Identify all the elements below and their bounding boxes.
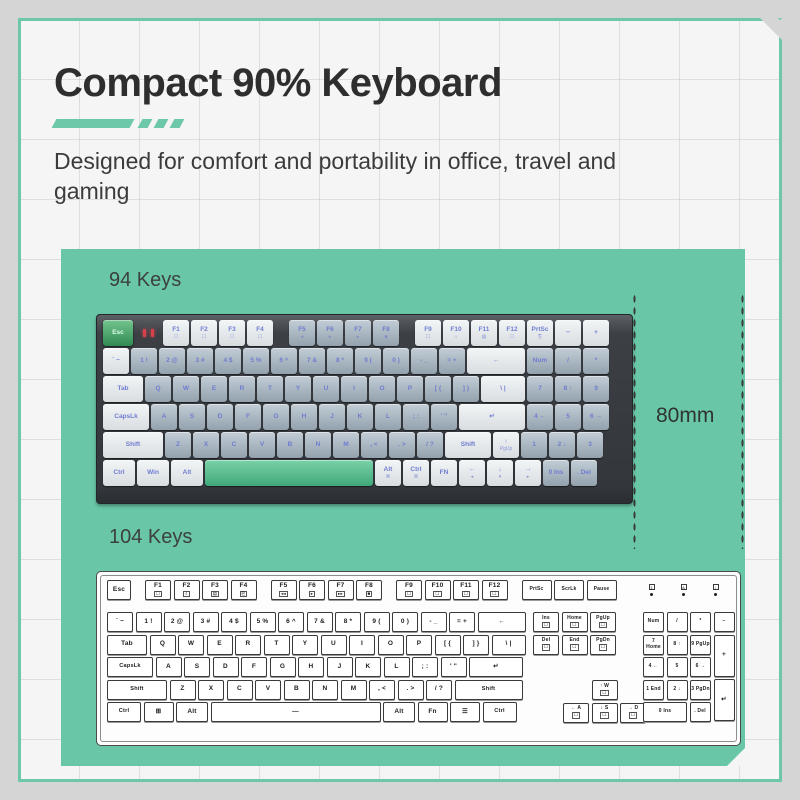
key-f2[interactable]: F2☐ (191, 320, 217, 346)
key-label: 3 (588, 442, 592, 449)
numpad-cluster: Num/*−7 Home8 ↑9 PgUp4 ←56 →1 End2 ↓3 Pg… (643, 612, 735, 725)
key-label: / ? (426, 442, 434, 449)
key-z[interactable]: Z (170, 680, 196, 700)
key-o[interactable]: O (378, 635, 404, 655)
key-f4[interactable]: F4⎘ (231, 580, 257, 600)
key-label: Pause (594, 587, 610, 592)
key-tab[interactable]: Tab (107, 635, 147, 655)
key-label: 5 % (257, 619, 269, 626)
key-label: + (722, 652, 726, 659)
key-ins[interactable]: Ins☐ (533, 612, 559, 632)
key-5[interactable]: 5 (667, 657, 688, 677)
key-d[interactable]: D (213, 657, 239, 677)
key-s[interactable]: ↓ S☐ (592, 703, 618, 723)
key-label: K (366, 664, 371, 671)
accent-bar (52, 119, 135, 128)
key-label: J (330, 414, 334, 421)
key-f1[interactable]: F1☐ (163, 320, 189, 346)
numpad-digit-row-3: 1 End2 ↓3 PgDn (643, 680, 711, 700)
key-sublabel: ◂◂ (279, 591, 288, 598)
page-frame: Compact 90% Keyboard Designed for comfor… (18, 18, 782, 782)
key-ctrl[interactable]: Ctrl⌘ (403, 460, 429, 486)
key-shift[interactable]: Shift (455, 680, 523, 700)
key-[interactable]: ← (478, 612, 526, 632)
key-h[interactable]: H (298, 657, 324, 677)
key-gap (275, 320, 287, 346)
key-b[interactable]: B (284, 680, 310, 700)
key-y[interactable]: Y (285, 376, 311, 402)
key-label: Alt (187, 709, 196, 716)
key-label: X (209, 686, 214, 693)
key-label: Num (648, 619, 660, 624)
key-f7[interactable]: F7▸▸ (328, 580, 354, 600)
key-label: → (525, 467, 532, 474)
key-label: Tab (121, 641, 133, 648)
key-t[interactable]: T (257, 376, 283, 402)
key-label: ' " (450, 664, 457, 671)
key-num[interactable]: Num (643, 612, 664, 632)
key-sublabel: ■ (384, 335, 387, 340)
key-[interactable]: ' " (441, 657, 467, 677)
key-w[interactable]: ↑ W☐ (592, 680, 618, 700)
key-label: + (594, 330, 598, 337)
key-[interactable]: + (583, 320, 609, 346)
keyboard-row-qwerty-row: TabQWERTYUIOP[ {] }\ |78 ↑9 (103, 376, 626, 402)
key-[interactable]: ↓▾ (487, 460, 513, 486)
key-win[interactable]: Win (137, 460, 169, 486)
key-pgup[interactable]: PgUp☐ (590, 612, 616, 632)
key-alt[interactable]: Alt⌘ (375, 460, 401, 486)
key-alt[interactable]: Alt (171, 460, 203, 486)
key-3[interactable]: 3 (577, 432, 603, 458)
key-4[interactable]: 4 ← (643, 657, 664, 677)
key-f12[interactable]: F12☐ (499, 320, 525, 346)
key-1[interactable]: 1 (521, 432, 547, 458)
key-fn[interactable]: FN (431, 460, 457, 486)
key-[interactable]: ← (467, 348, 525, 374)
key-j[interactable]: J (319, 404, 345, 430)
key-f11[interactable]: F11▤ (471, 320, 497, 346)
key-label: E (212, 386, 216, 393)
key-pgdn[interactable]: PgDn☐ (590, 635, 616, 655)
key-4[interactable]: 4 $ (221, 612, 247, 632)
key-label: V (266, 686, 271, 693)
key-8[interactable]: 8 * (335, 612, 361, 632)
key-[interactable]: ←◂ (459, 460, 485, 486)
numpad-digit-row-2: 4 ←56 → (643, 657, 711, 677)
key-f3[interactable]: F3☐ (219, 320, 245, 346)
key-1-end[interactable]: 1 End (643, 680, 664, 700)
key-[interactable]: = + (439, 348, 465, 374)
key-a[interactable]: ← A☐ (563, 703, 589, 723)
key-label: ; : (422, 664, 429, 671)
key-[interactable]: - _ (421, 612, 447, 632)
key-shift[interactable]: Shift (445, 432, 491, 458)
key-[interactable]: \ | (492, 635, 526, 655)
key-a[interactable]: A (151, 404, 177, 430)
key-label: 2 @ (166, 358, 178, 365)
key-f4[interactable]: F4☐ (247, 320, 273, 346)
key-label: U (331, 641, 336, 648)
key-9[interactable]: 9 (583, 376, 609, 402)
key-label: - _ (429, 619, 437, 626)
key-c[interactable]: C (227, 680, 253, 700)
key-v[interactable]: V (249, 432, 275, 458)
key-[interactable]: ` ~ (103, 348, 129, 374)
key-f9[interactable]: F9☐ (415, 320, 441, 346)
key-label: Shift (461, 442, 475, 449)
key-j[interactable]: J (327, 657, 353, 677)
key-sublabel: ▸ (357, 335, 360, 340)
keyboard-row-number-row: ` ~1 !2 @3 #4 $5 %6 ^7 &8 *9 (0 )- _= +←… (103, 348, 626, 374)
key-home[interactable]: Home☐ (562, 612, 588, 632)
key-0-ins[interactable]: 0 Ins (543, 460, 569, 486)
key-f7[interactable]: F7▸ (345, 320, 371, 346)
key-w[interactable]: W (178, 635, 204, 655)
key-r[interactable]: R (229, 376, 255, 402)
key-i[interactable]: I (341, 376, 367, 402)
key-label: F5 (280, 583, 288, 590)
key-sublabel: ☐ (462, 591, 470, 598)
key-f3[interactable]: F3▤ (202, 580, 228, 600)
key-t[interactable]: T (264, 635, 290, 655)
caps-lock-led: A (681, 584, 687, 596)
key-2[interactable]: 2 @ (159, 348, 185, 374)
key-label: ScrLk (562, 587, 577, 592)
key-[interactable]: ' " (431, 404, 457, 430)
key-[interactable]: ☰ (450, 702, 480, 722)
key-label: H (302, 414, 307, 421)
key-[interactable]: ` ~ (107, 612, 133, 632)
key-label: \ | (500, 386, 505, 393)
key-[interactable]: / ? (417, 432, 443, 458)
key-label: 8 * (336, 358, 344, 365)
key-[interactable]: [ { (425, 376, 451, 402)
key-sublabel: ☐ (490, 591, 498, 598)
key-n[interactable]: N (312, 680, 338, 700)
key-del[interactable]: . Del (571, 460, 597, 486)
key-shift[interactable]: Shift (107, 680, 167, 700)
key-label: 3 # (195, 358, 204, 365)
key-[interactable]: — (211, 702, 381, 722)
key-label: 1 ! (140, 358, 148, 365)
key-l[interactable]: L (384, 657, 410, 677)
key-6[interactable]: 6 ^ (271, 348, 297, 374)
key-f12[interactable]: F12☐ (482, 580, 508, 600)
accent-underline (54, 119, 184, 128)
key-1[interactable]: 1 ! (131, 348, 157, 374)
num-lock-led: 1 (649, 584, 655, 596)
key-sublabel: ☐ (426, 335, 430, 340)
key-label: N (316, 442, 321, 449)
key-label: F11 (479, 327, 490, 334)
key-fn[interactable]: Fn (418, 702, 448, 722)
key-del[interactable]: Del☐ (533, 635, 559, 655)
key-esc[interactable]: Esc (107, 580, 131, 600)
key-f10[interactable]: F10☐ (425, 580, 451, 600)
key-capslk[interactable]: CapsLk (103, 404, 149, 430)
keyboard-row-shift-row: ShiftZXCVBNM, <. >/ ?Shift (107, 680, 526, 700)
key-label: 3 PgDn (691, 687, 709, 692)
key-f10[interactable]: F10⌂ (443, 320, 469, 346)
key-prtsc[interactable]: PrtSc (522, 580, 552, 600)
key-[interactable]: / (667, 612, 688, 632)
key-0[interactable]: 0 ) (383, 348, 409, 374)
numpad-digit-row-4: 0 Ins. Del (643, 702, 711, 722)
key-sublabel: PgUp (500, 447, 513, 452)
key-x[interactable]: X (193, 432, 219, 458)
key-label: 5 (566, 414, 570, 421)
key-[interactable]: / ? (426, 680, 452, 700)
key-i[interactable]: I (349, 635, 375, 655)
key-[interactable]: ; : (412, 657, 438, 677)
key-k[interactable]: K (355, 657, 381, 677)
key-8[interactable]: 8 ↑ (555, 376, 581, 402)
keyboard-94-key: EscF1☐F2☐F3☐F4☐F5◂F6▸F7▸F8■F9☐F10⌂F11▤F1… (96, 314, 633, 504)
key-label: Y (303, 641, 308, 648)
key-label: ] } (463, 386, 470, 393)
key-r[interactable]: R (235, 635, 261, 655)
key-q[interactable]: Q (150, 635, 176, 655)
key-9-pgup[interactable]: 9 PgUp (690, 635, 711, 655)
key-alt[interactable]: Alt (176, 702, 208, 722)
key-9[interactable]: 9 ( (355, 348, 381, 374)
key-[interactable]: ↵ (469, 657, 523, 677)
key-label: Alt (394, 709, 403, 716)
header: Compact 90% Keyboard Designed for comfor… (54, 63, 749, 207)
led-icon: ↓ (713, 584, 719, 590)
key-f5[interactable]: F5◂ (289, 320, 315, 346)
key-8[interactable]: 8 ↑ (667, 635, 688, 655)
key-ctrl[interactable]: Ctrl (483, 702, 517, 722)
key-y[interactable]: Y (292, 635, 318, 655)
key-3-pgdn[interactable]: 3 PgDn (690, 680, 711, 700)
key-s[interactable]: S (184, 657, 210, 677)
key-f1[interactable]: F1☐ (145, 580, 171, 600)
key-end[interactable]: End☐ (562, 635, 588, 655)
key-a[interactable]: A (156, 657, 182, 677)
key-3[interactable]: 3 # (187, 348, 213, 374)
key-2[interactable]: 2 ↓ (667, 680, 688, 700)
key-sublabel: ⌘ (414, 475, 419, 480)
key-label: 5 % (250, 358, 261, 365)
key-m[interactable]: M (341, 680, 367, 700)
key-p[interactable]: P (406, 635, 432, 655)
key-6[interactable]: 6 → (690, 657, 711, 677)
key-tab[interactable]: Tab (103, 376, 143, 402)
key-5[interactable]: 5 % (243, 348, 269, 374)
key-label: Win (147, 470, 159, 477)
key-[interactable]: - _ (411, 348, 437, 374)
key-ctrl[interactable]: Ctrl (103, 460, 135, 486)
key-del[interactable]: . Del (690, 702, 711, 722)
key-c[interactable]: C (221, 432, 247, 458)
key-e[interactable]: E (201, 376, 227, 402)
key-[interactable]: →▸ (515, 460, 541, 486)
key-label: L (394, 664, 398, 671)
numpad-row-1: Num/*− (643, 612, 735, 632)
key-u[interactable]: U (321, 635, 347, 655)
key-sublabel: ▤ (482, 335, 487, 340)
key-[interactable]: ↵ (714, 679, 735, 721)
key-gap (401, 320, 413, 346)
key-e[interactable]: E (207, 635, 233, 655)
key-shift[interactable]: Shift (103, 432, 163, 458)
key-sublabel: ☐ (174, 335, 178, 340)
key-num[interactable]: Num (527, 348, 553, 374)
key-[interactable]: * (583, 348, 609, 374)
key-s[interactable]: S (179, 404, 205, 430)
key-label: 0 Ins (659, 709, 671, 714)
key-7[interactable]: 7 (527, 376, 553, 402)
key-g[interactable]: G (270, 657, 296, 677)
key-sublabel: ☐ (202, 335, 206, 340)
key-label: T (268, 386, 272, 393)
key-[interactable]: , < (369, 680, 395, 700)
key-label: E (217, 641, 222, 648)
key-label: A (162, 414, 167, 421)
key-4[interactable]: 4 ← (527, 404, 553, 430)
key-w[interactable]: W (173, 376, 199, 402)
key-label: 2 ↓ (673, 687, 680, 692)
key-label: O (388, 641, 393, 648)
key-label: 1 ! (144, 619, 152, 626)
keyboard-row-number-row: ` ~1 !2 @3 #4 $5 %6 ^7 &8 *9 (0 )- _= +← (107, 612, 526, 632)
key-[interactable]: = + (449, 612, 475, 632)
key-5[interactable]: 5 (555, 404, 581, 430)
page-title: Compact 90% Keyboard (54, 63, 749, 103)
key-label: Shift (126, 442, 140, 449)
key-[interactable]: ; : (403, 404, 429, 430)
key-label: F8 (382, 327, 390, 334)
key-d[interactable]: D (207, 404, 233, 430)
key-label: Y (296, 386, 300, 393)
key-prtsc[interactable]: PrtSc⎘ (527, 320, 553, 346)
key-label: F9 (405, 583, 413, 590)
key-n[interactable]: N (305, 432, 331, 458)
key-label: 8 * (344, 619, 353, 626)
key-[interactable]: ↵ (459, 404, 525, 430)
key-z[interactable]: Z (165, 432, 191, 458)
key-f6[interactable]: F6▸ (299, 580, 325, 600)
key-0-ins[interactable]: 0 Ins (643, 702, 687, 722)
key-[interactable]: ] } (453, 376, 479, 402)
key-[interactable]: [ { (435, 635, 461, 655)
key-[interactable]: + (714, 635, 735, 677)
key-l[interactable]: L (375, 404, 401, 430)
key-[interactable]: ] } (463, 635, 489, 655)
key-[interactable]: \ | (481, 376, 525, 402)
key-p[interactable]: P (397, 376, 423, 402)
key-f2[interactable]: F2⌕ (174, 580, 200, 600)
key-sublabel: ▸ (527, 475, 530, 480)
key-f[interactable]: F (235, 404, 261, 430)
key-k[interactable]: K (347, 404, 373, 430)
key-2[interactable]: 2 @ (164, 612, 190, 632)
key-scrlk[interactable]: ScrLk (554, 580, 584, 600)
key-[interactable]: . > (389, 432, 415, 458)
keyboard-row-bottom-row: Ctrl⊞Alt—AltFn☰Ctrl (107, 702, 526, 722)
key-9[interactable]: 9 ( (364, 612, 390, 632)
key-sublabel: ☐ (572, 712, 580, 719)
key-7-home[interactable]: 7 Home (643, 635, 664, 655)
key-label: Q (155, 386, 160, 393)
key-6[interactable]: 6 ^ (278, 612, 304, 632)
key-f8[interactable]: F8■ (373, 320, 399, 346)
key-v[interactable]: V (255, 680, 281, 700)
key-space[interactable] (205, 460, 373, 486)
key-0[interactable]: 0 ) (392, 612, 418, 632)
key-7[interactable]: 7 & (307, 612, 333, 632)
key-[interactable]: , < (361, 432, 387, 458)
key-f6[interactable]: F6▸ (317, 320, 343, 346)
key-label: [ { (435, 386, 442, 393)
key-1[interactable]: 1 ! (136, 612, 162, 632)
key-[interactable]: ⊞ (144, 702, 174, 722)
key-esc[interactable]: Esc (103, 320, 133, 346)
key-label: 1 (532, 442, 536, 449)
key-[interactable]: / (555, 348, 581, 374)
key-2[interactable]: 2 ↓ (549, 432, 575, 458)
key-label: F2 (183, 583, 191, 590)
key-f8[interactable]: F8■ (356, 580, 382, 600)
key-4[interactable]: 4 $ (215, 348, 241, 374)
key-o[interactable]: O (369, 376, 395, 402)
key-f[interactable]: F (241, 657, 267, 677)
key-x[interactable]: X (198, 680, 224, 700)
key-3[interactable]: 3 # (193, 612, 219, 632)
accent-dash-3 (170, 119, 185, 128)
key-[interactable]: − (555, 320, 581, 346)
key-alt[interactable]: Alt (383, 702, 415, 722)
key-[interactable]: * (690, 612, 711, 632)
key-5[interactable]: 5 % (250, 612, 276, 632)
key-q[interactable]: Q (145, 376, 171, 402)
key-sublabel: ⌕ (183, 591, 190, 598)
key-label: . > (398, 442, 405, 449)
keyboard-row-bottom-row: CtrlWinAltAlt⌘Ctrl⌘FN←◂↓▾→▸0 Ins. Del (103, 460, 626, 486)
key-label: 2 ↓ (558, 442, 567, 449)
key-h[interactable]: H (291, 404, 317, 430)
key-7[interactable]: 7 & (299, 348, 325, 374)
key-f5[interactable]: F5◂◂ (271, 580, 297, 600)
key-[interactable]: − (714, 612, 735, 632)
led-icon: A (681, 584, 687, 590)
fn-group-1: F1☐F2⌕F3▤F4⎘ (145, 580, 257, 600)
key-label: . Del (577, 470, 591, 477)
key-[interactable]: . > (398, 680, 424, 700)
key-label: 7 Home (644, 639, 663, 650)
key-u[interactable]: U (313, 376, 339, 402)
key-sublabel: ▾ (499, 475, 502, 480)
key-m[interactable]: M (333, 432, 359, 458)
key-[interactable]: ↑PgUp (493, 432, 519, 458)
key-6[interactable]: 6 → (583, 404, 609, 430)
key-b[interactable]: B (277, 432, 303, 458)
key-pause[interactable]: Pause (587, 580, 617, 600)
led-icon: 1 (649, 584, 655, 590)
key-ctrl[interactable]: Ctrl (107, 702, 141, 722)
key-sublabel: ☐ (542, 622, 550, 629)
key-8[interactable]: 8 * (327, 348, 353, 374)
key-label: D (223, 664, 228, 671)
key-g[interactable]: G (263, 404, 289, 430)
keyboard-row-qwerty-row: TabQWERTYUIOP[ {] }\ | (107, 635, 526, 655)
key-f9[interactable]: F9☐ (396, 580, 422, 600)
key-capslk[interactable]: CapsLk (107, 657, 153, 677)
key-label: Shift (482, 687, 495, 693)
key-f11[interactable]: F11☐ (453, 580, 479, 600)
